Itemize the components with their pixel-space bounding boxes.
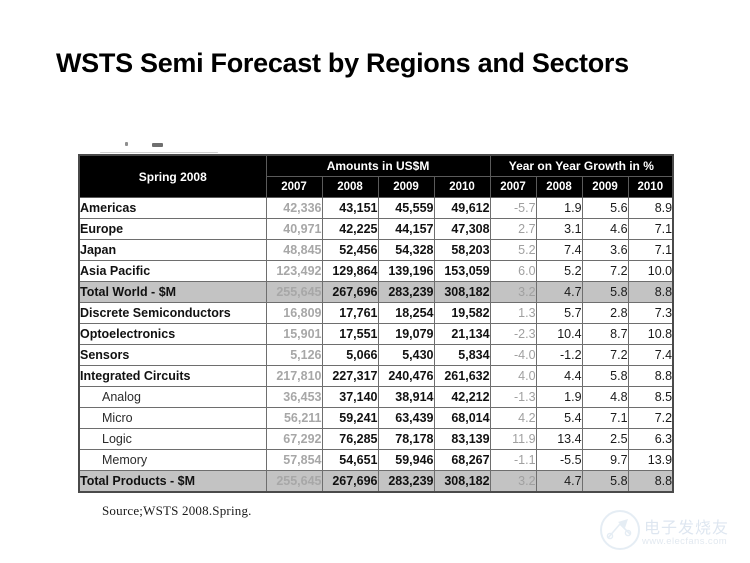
growth-cell: 8.9 (628, 198, 673, 219)
row-label: Logic (79, 429, 266, 450)
growth-cell: 1.9 (536, 387, 582, 408)
amount-cell: 240,476 (378, 366, 434, 387)
amount-cell: 19,079 (378, 324, 434, 345)
amount-cell: 47,308 (434, 219, 490, 240)
table-row: Logic67,29276,28578,17883,13911.913.42.5… (79, 429, 673, 450)
amount-cell: 52,456 (322, 240, 378, 261)
table-row: Optoelectronics15,90117,55119,07921,134-… (79, 324, 673, 345)
table-row: Memory57,85454,65159,94668,267-1.1-5.59.… (79, 450, 673, 471)
table-row: Asia Pacific123,492129,864139,196153,059… (79, 261, 673, 282)
header-growth-2009: 2009 (582, 177, 628, 198)
amount-cell: 42,212 (434, 387, 490, 408)
growth-cell: 4.4 (536, 366, 582, 387)
table-corner-label: Spring 2008 (79, 155, 266, 198)
amount-cell: 308,182 (434, 471, 490, 493)
amount-cell: 5,066 (322, 345, 378, 366)
amount-cell: 123,492 (266, 261, 322, 282)
amount-cell: 36,453 (266, 387, 322, 408)
amount-cell: 153,059 (434, 261, 490, 282)
growth-cell: 2.5 (582, 429, 628, 450)
amount-cell: 5,430 (378, 345, 434, 366)
growth-cell: 10.4 (536, 324, 582, 345)
header-amount-2010: 2010 (434, 177, 490, 198)
amount-cell: 48,845 (266, 240, 322, 261)
growth-cell: 7.1 (628, 219, 673, 240)
growth-cell: 5.7 (536, 303, 582, 324)
amount-cell: 67,292 (266, 429, 322, 450)
growth-cell: 13.4 (536, 429, 582, 450)
row-label: Memory (79, 450, 266, 471)
row-label: Japan (79, 240, 266, 261)
growth-cell: 5.6 (582, 198, 628, 219)
amount-cell: 18,254 (378, 303, 434, 324)
amount-cell: 59,946 (378, 450, 434, 471)
scan-artifact-dash (152, 143, 163, 147)
forecast-table-container: Spring 2008 Amounts in US$M Year on Year… (78, 154, 672, 493)
growth-cell: 7.2 (582, 261, 628, 282)
growth-cell: 3.2 (490, 471, 536, 493)
table-row: Europe40,97142,22544,15747,3082.73.14.67… (79, 219, 673, 240)
amount-cell: 42,225 (322, 219, 378, 240)
growth-cell: 10.8 (628, 324, 673, 345)
growth-cell: 5.2 (536, 261, 582, 282)
header-group-amounts: Amounts in US$M (266, 155, 490, 177)
table-row: Integrated Circuits217,810227,317240,476… (79, 366, 673, 387)
growth-cell: 6.3 (628, 429, 673, 450)
growth-cell: 8.5 (628, 387, 673, 408)
watermark-url: www.elecfans.com (642, 536, 727, 547)
growth-cell: 8.8 (628, 471, 673, 493)
scan-artifact-line (100, 152, 218, 153)
amount-cell: 76,285 (322, 429, 378, 450)
amount-cell: 283,239 (378, 471, 434, 493)
amount-cell: 217,810 (266, 366, 322, 387)
amount-cell: 255,645 (266, 471, 322, 493)
amount-cell: 261,632 (434, 366, 490, 387)
growth-cell: 8.7 (582, 324, 628, 345)
amount-cell: 129,864 (322, 261, 378, 282)
amount-cell: 267,696 (322, 471, 378, 493)
amount-cell: 255,645 (266, 282, 322, 303)
growth-cell: 4.6 (582, 219, 628, 240)
amount-cell: 57,854 (266, 450, 322, 471)
row-label: Americas (79, 198, 266, 219)
growth-cell: 4.8 (582, 387, 628, 408)
growth-cell: 3.1 (536, 219, 582, 240)
growth-cell: 1.3 (490, 303, 536, 324)
amount-cell: 16,809 (266, 303, 322, 324)
amount-cell: 17,551 (322, 324, 378, 345)
header-growth-2008: 2008 (536, 177, 582, 198)
amount-cell: 63,439 (378, 408, 434, 429)
growth-cell: 2.7 (490, 219, 536, 240)
growth-cell: 7.1 (628, 240, 673, 261)
amount-cell: 37,140 (322, 387, 378, 408)
table-row: Japan48,84552,45654,32858,2035.27.43.67.… (79, 240, 673, 261)
amount-cell: 45,559 (378, 198, 434, 219)
growth-cell: 4.7 (536, 471, 582, 493)
amount-cell: 54,328 (378, 240, 434, 261)
growth-cell: 13.9 (628, 450, 673, 471)
amount-cell: 54,651 (322, 450, 378, 471)
amount-cell: 56,211 (266, 408, 322, 429)
amount-cell: 227,317 (322, 366, 378, 387)
growth-cell: -5.5 (536, 450, 582, 471)
row-label: Discrete Semiconductors (79, 303, 266, 324)
table-body: Americas42,33643,15145,55949,612-5.71.95… (79, 198, 673, 493)
scan-artifact-dot (125, 142, 128, 146)
growth-cell: 10.0 (628, 261, 673, 282)
growth-cell: 6.0 (490, 261, 536, 282)
amount-cell: 139,196 (378, 261, 434, 282)
row-label: Optoelectronics (79, 324, 266, 345)
slide-canvas: WSTS Semi Forecast by Regions and Sector… (0, 0, 750, 563)
page-title: WSTS Semi Forecast by Regions and Sector… (56, 48, 629, 79)
table-row: Total World - $M255,645267,696283,239308… (79, 282, 673, 303)
watermark: 电子发烧友 www.elecfans.com (598, 508, 740, 558)
growth-cell: 1.9 (536, 198, 582, 219)
growth-cell: 8.8 (628, 366, 673, 387)
header-growth-2010: 2010 (628, 177, 673, 198)
table-header: Spring 2008 Amounts in US$M Year on Year… (79, 155, 673, 198)
source-note: Source;WSTS 2008.Spring. (102, 503, 252, 519)
header-amount-2007: 2007 (266, 177, 322, 198)
header-amount-2008: 2008 (322, 177, 378, 198)
row-label: Micro (79, 408, 266, 429)
row-label: Integrated Circuits (79, 366, 266, 387)
growth-cell: 8.8 (628, 282, 673, 303)
amount-cell: 38,914 (378, 387, 434, 408)
row-label: Sensors (79, 345, 266, 366)
amount-cell: 5,126 (266, 345, 322, 366)
header-group-growth: Year on Year Growth in % (490, 155, 673, 177)
amount-cell: 44,157 (378, 219, 434, 240)
growth-cell: 5.4 (536, 408, 582, 429)
row-label: Europe (79, 219, 266, 240)
growth-cell: -1.3 (490, 387, 536, 408)
growth-cell: -1.1 (490, 450, 536, 471)
amount-cell: 68,267 (434, 450, 490, 471)
growth-cell: 3.6 (582, 240, 628, 261)
amount-cell: 49,612 (434, 198, 490, 219)
growth-cell: -2.3 (490, 324, 536, 345)
growth-cell: 7.4 (628, 345, 673, 366)
growth-cell: 7.2 (582, 345, 628, 366)
amount-cell: 59,241 (322, 408, 378, 429)
row-label: Total World - $M (79, 282, 266, 303)
growth-cell: -1.2 (536, 345, 582, 366)
row-label: Asia Pacific (79, 261, 266, 282)
table-row: Sensors5,1265,0665,4305,834-4.0-1.27.27.… (79, 345, 673, 366)
table-row: Analog36,45337,14038,91442,212-1.31.94.8… (79, 387, 673, 408)
table-row: Americas42,33643,15145,55949,612-5.71.95… (79, 198, 673, 219)
row-label: Analog (79, 387, 266, 408)
growth-cell: 5.8 (582, 471, 628, 493)
growth-cell: 11.9 (490, 429, 536, 450)
amount-cell: 19,582 (434, 303, 490, 324)
amount-cell: 78,178 (378, 429, 434, 450)
watermark-logo-icon (598, 508, 642, 552)
amount-cell: 308,182 (434, 282, 490, 303)
growth-cell: 4.2 (490, 408, 536, 429)
growth-cell: 7.4 (536, 240, 582, 261)
growth-cell: 2.8 (582, 303, 628, 324)
row-label: Total Products - $M (79, 471, 266, 493)
amount-cell: 21,134 (434, 324, 490, 345)
header-group-row: Spring 2008 Amounts in US$M Year on Year… (79, 155, 673, 177)
amount-cell: 267,696 (322, 282, 378, 303)
growth-cell: 7.1 (582, 408, 628, 429)
amount-cell: 283,239 (378, 282, 434, 303)
growth-cell: 9.7 (582, 450, 628, 471)
table-row: Discrete Semiconductors16,80917,76118,25… (79, 303, 673, 324)
amount-cell: 15,901 (266, 324, 322, 345)
table-row: Total Products - $M255,645267,696283,239… (79, 471, 673, 493)
forecast-table: Spring 2008 Amounts in US$M Year on Year… (78, 154, 674, 493)
header-growth-2007: 2007 (490, 177, 536, 198)
header-amount-2009: 2009 (378, 177, 434, 198)
table-row: Micro56,21159,24163,43968,0144.25.47.17.… (79, 408, 673, 429)
growth-cell: 5.2 (490, 240, 536, 261)
growth-cell: 7.2 (628, 408, 673, 429)
growth-cell: 4.0 (490, 366, 536, 387)
amount-cell: 5,834 (434, 345, 490, 366)
amount-cell: 68,014 (434, 408, 490, 429)
amount-cell: 17,761 (322, 303, 378, 324)
growth-cell: 3.2 (490, 282, 536, 303)
amount-cell: 43,151 (322, 198, 378, 219)
amount-cell: 58,203 (434, 240, 490, 261)
amount-cell: 40,971 (266, 219, 322, 240)
watermark-text-cn: 电子发烧友 (644, 514, 729, 538)
growth-cell: 7.3 (628, 303, 673, 324)
amount-cell: 42,336 (266, 198, 322, 219)
amount-cell: 83,139 (434, 429, 490, 450)
growth-cell: -4.0 (490, 345, 536, 366)
growth-cell: 4.7 (536, 282, 582, 303)
growth-cell: 5.8 (582, 366, 628, 387)
growth-cell: 5.8 (582, 282, 628, 303)
growth-cell: -5.7 (490, 198, 536, 219)
